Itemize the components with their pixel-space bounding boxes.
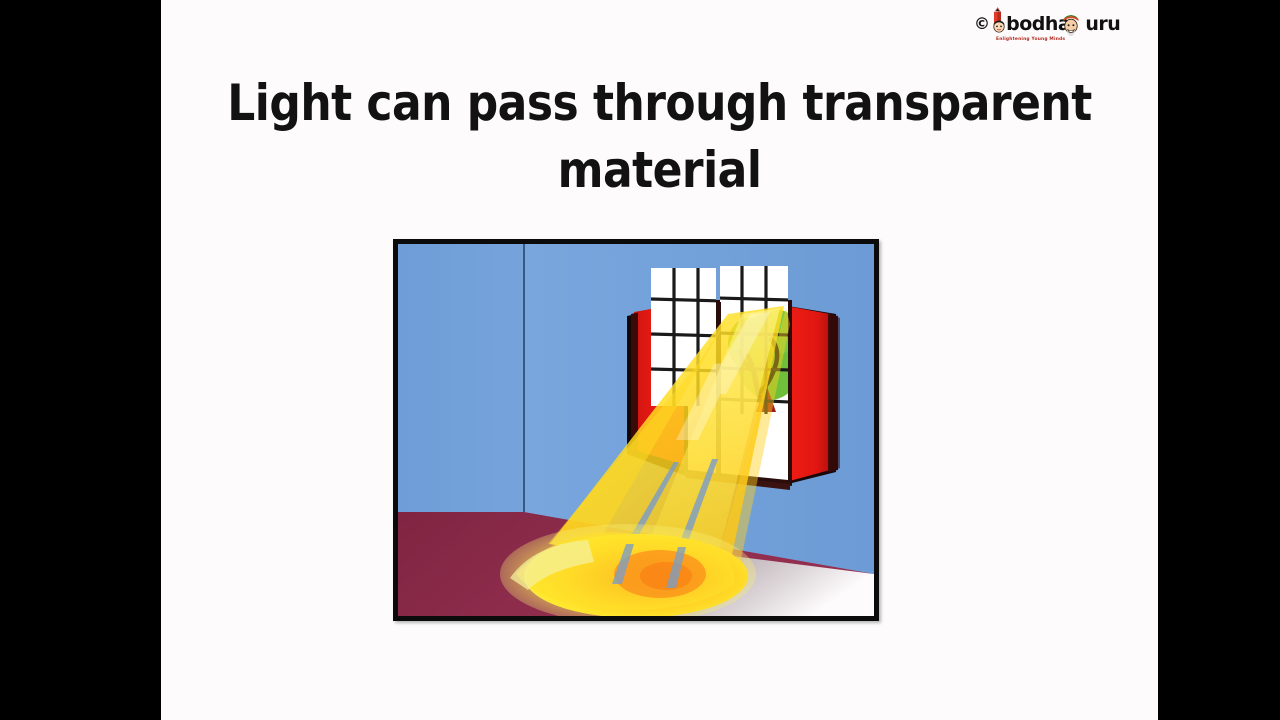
logo-word-guru: uru	[1085, 15, 1120, 34]
page-title: Light can pass through transparent mater…	[221, 70, 1098, 204]
illustration-frame	[393, 239, 879, 621]
copyright-icon: ©	[974, 16, 990, 32]
right-shutter-shadow	[830, 314, 840, 472]
slide-stage: © b bodha g uru	[0, 0, 1280, 720]
guru-face-icon	[1060, 13, 1082, 37]
slide-canvas: © b bodha g uru	[161, 0, 1158, 720]
boy-face-icon	[991, 18, 1007, 33]
logo-tagline: Enlightening Young Minds	[996, 37, 1065, 42]
left-shutter-edge	[631, 313, 638, 452]
right-red-shutter	[786, 306, 830, 482]
letterbox-bar-left	[0, 0, 161, 720]
letterbox-bar-right	[1158, 0, 1280, 720]
sunlight-through-window-illustration	[398, 244, 874, 616]
bodhaguru-logo[interactable]: © b bodha g uru	[974, 7, 1114, 51]
